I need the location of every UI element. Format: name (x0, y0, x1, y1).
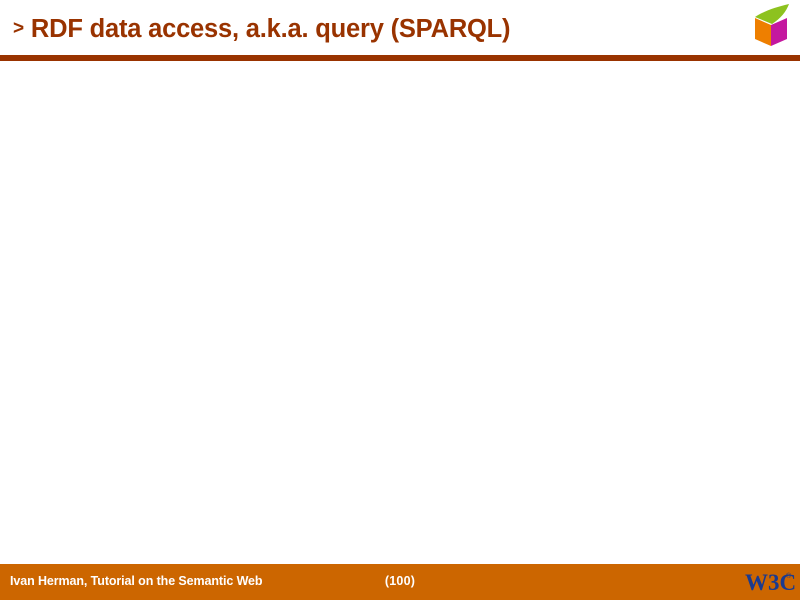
footer-page-number: (100) (0, 573, 800, 589)
slide-content-area (0, 62, 800, 564)
title-bullet-marker: > (13, 10, 24, 48)
title-divider-rule (0, 55, 800, 61)
svg-text:®: ® (786, 572, 792, 580)
w3c-cube-logo-icon (748, 1, 796, 49)
w3c-wordmark-logo-icon: W3C ® (744, 568, 796, 596)
page-title: > RDF data access, a.k.a. query (SPARQL) (13, 9, 733, 49)
slide-header: > RDF data access, a.k.a. query (SPARQL) (0, 0, 800, 62)
slide-footer: Ivan Herman, Tutorial on the Semantic We… (0, 564, 800, 600)
presentation-slide: > RDF data access, a.k.a. query (SPARQL)… (0, 0, 800, 600)
title-text: RDF data access, a.k.a. query (SPARQL) (31, 10, 510, 48)
